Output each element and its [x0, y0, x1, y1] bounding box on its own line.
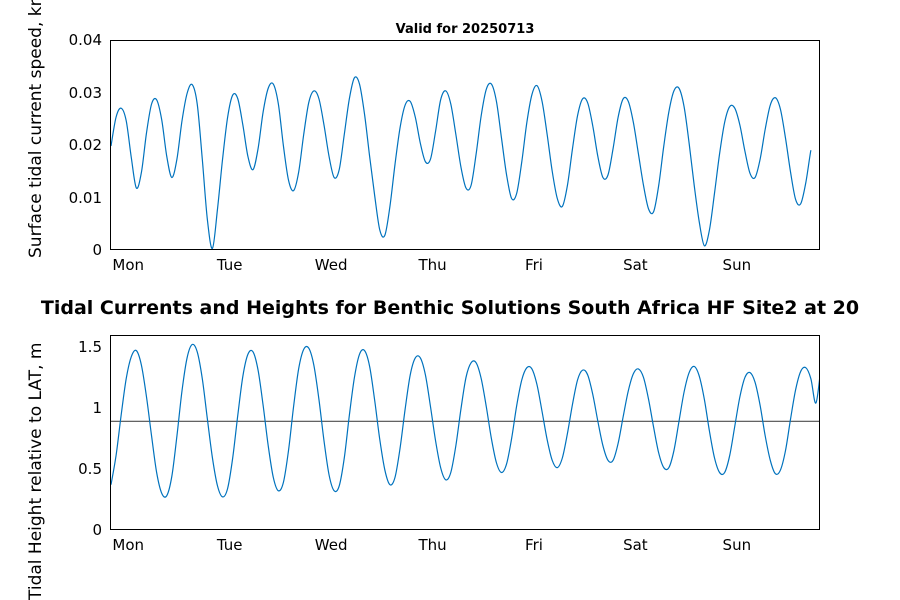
current-speed-plot: [111, 41, 819, 249]
x-tick-label: Sun: [723, 536, 752, 554]
y-axis-label-top: Surface tidal current speed, kn: [26, 0, 46, 258]
x-tick-label: Thu: [418, 256, 446, 274]
x-tick-label: Tue: [217, 536, 243, 554]
y-tick-label: 0.5: [78, 460, 102, 478]
y-tick-label: 0.01: [69, 189, 102, 207]
y-tick-label: 0: [92, 521, 102, 539]
x-tick-label: Sun: [723, 256, 752, 274]
x-tick-label: Fri: [525, 536, 543, 554]
y-axis-label-bottom: Tidal Height relative to LAT, m: [26, 343, 46, 600]
y-tick-label: 1: [92, 399, 102, 417]
x-tick-label: Tue: [217, 256, 243, 274]
y-tick-label: 0.04: [69, 31, 102, 49]
subplot-title: Valid for 20250713: [110, 22, 820, 37]
x-tick-label: Wed: [315, 536, 348, 554]
x-tick-label: Wed: [315, 256, 348, 274]
x-tick-label: Mon: [112, 256, 144, 274]
y-tick-label: 1.5: [78, 338, 102, 356]
y-tick-label: 0.03: [69, 84, 102, 102]
x-tick-label: Thu: [418, 536, 446, 554]
x-tick-label: Sat: [623, 536, 648, 554]
x-tick-label: Fri: [525, 256, 543, 274]
y-tick-label: 0.02: [69, 136, 102, 154]
chart-axes-tidal-height: [110, 335, 820, 530]
chart-axes-current-speed: [110, 40, 820, 250]
tidal-height-plot: [111, 336, 819, 529]
x-tick-label: Mon: [112, 536, 144, 554]
x-tick-label: Sat: [623, 256, 648, 274]
y-tick-label: 0: [92, 241, 102, 259]
figure-title: Tidal Currents and Heights for Benthic S…: [0, 297, 900, 319]
figure: Valid for 20250713 Tidal Currents and He…: [0, 0, 900, 600]
